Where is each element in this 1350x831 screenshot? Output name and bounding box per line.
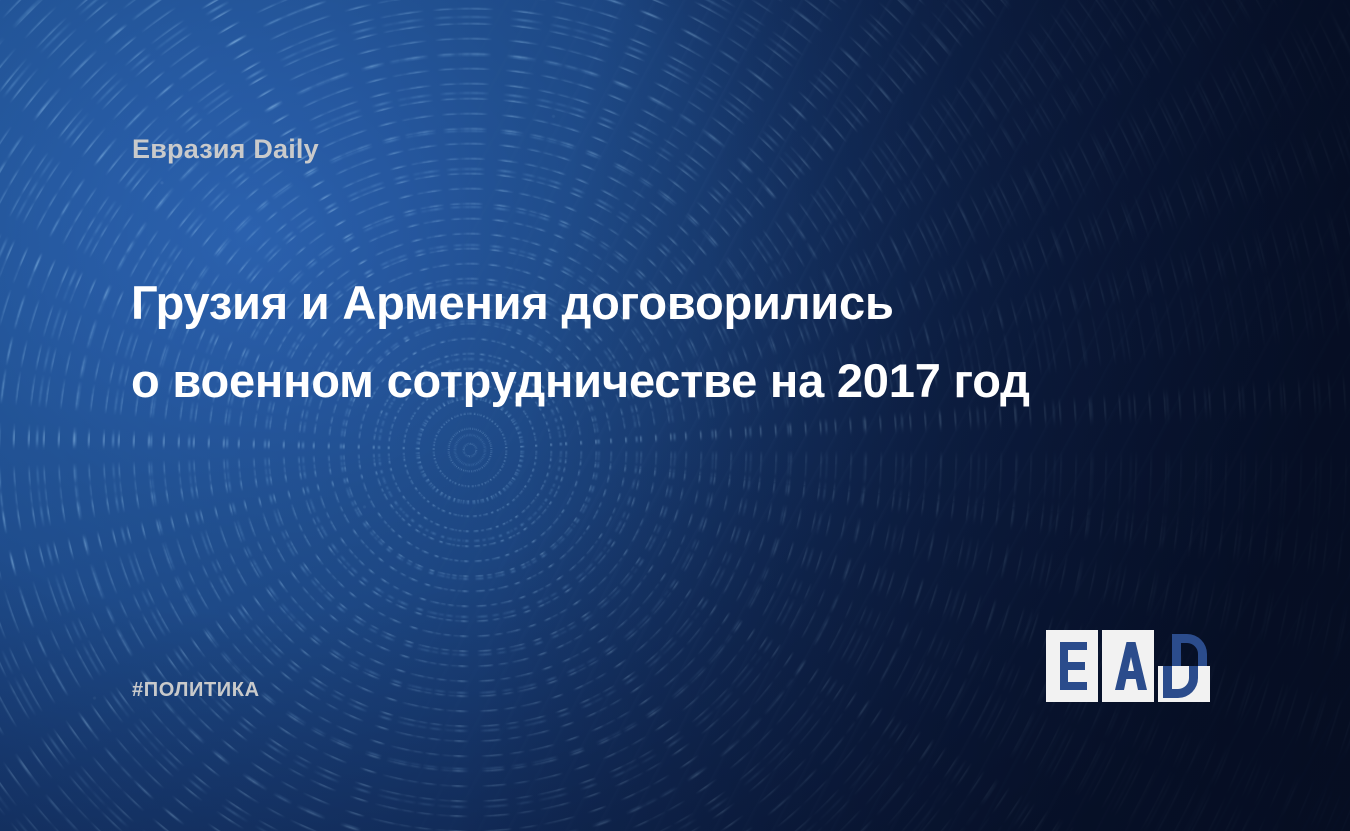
ead-logo-svg xyxy=(1045,628,1220,704)
headline-line-2: о военном сотрудничестве на 2017 год xyxy=(131,342,1221,420)
logo-tile-a xyxy=(1102,630,1154,702)
card-content: Евразия Daily Грузия и Армения договорил… xyxy=(0,0,1350,831)
news-card: Евразия Daily Грузия и Армения договорил… xyxy=(0,0,1350,831)
headline-line-1: Грузия и Армения договорились xyxy=(131,264,1221,342)
logo-tile-e xyxy=(1046,630,1098,702)
brand-title: Евразия Daily xyxy=(132,134,319,165)
logo-d-upper-half xyxy=(1172,634,1207,666)
ead-logo[interactable] xyxy=(1045,628,1220,704)
category-hashtag[interactable]: #ПОЛИТИКА xyxy=(132,679,260,702)
page-title: Грузия и Армения договорились о военном … xyxy=(131,264,1221,420)
logo-tile-d xyxy=(1158,634,1210,702)
